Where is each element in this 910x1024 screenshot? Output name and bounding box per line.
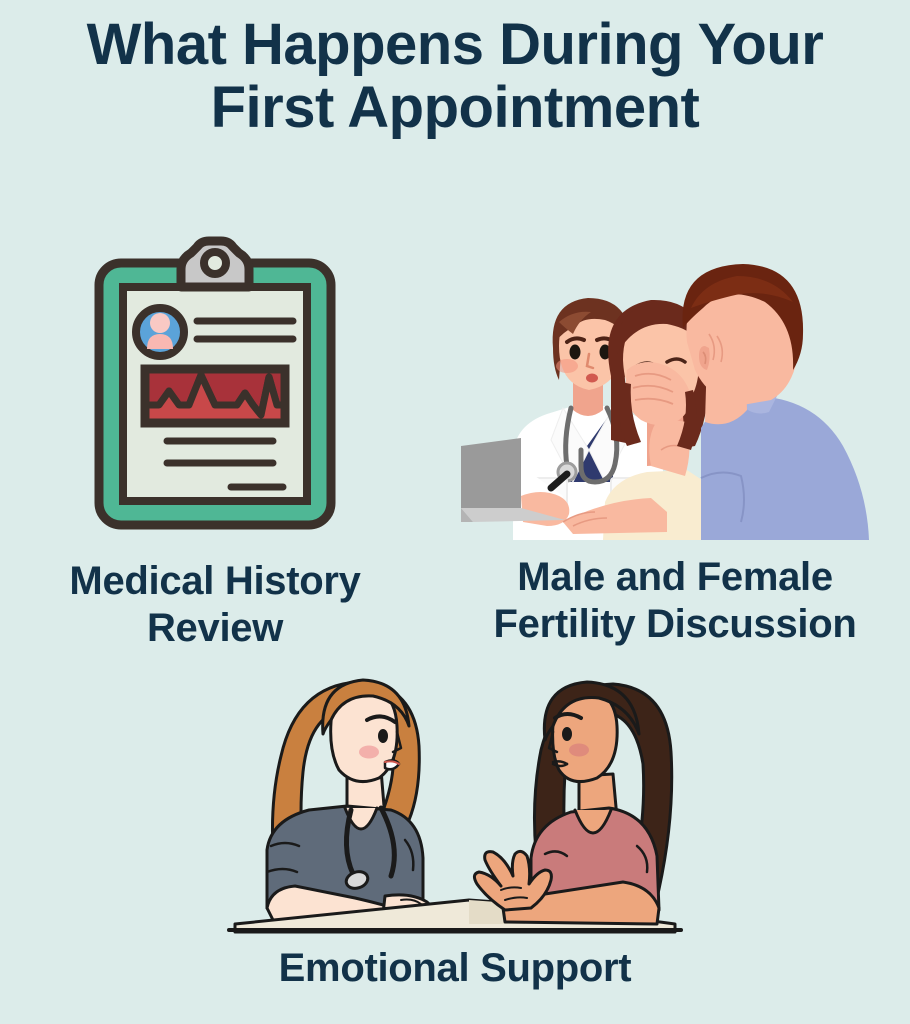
clipboard-medical-record-icon: [85, 235, 345, 535]
label-line-2: Review: [0, 605, 430, 652]
label-line-1: Emotional Support: [180, 945, 730, 992]
section-medical-history-review: Medical History Review: [0, 230, 430, 652]
section-emotional-support: Emotional Support: [180, 660, 730, 992]
doctor-consulting-couple-illustration: [455, 250, 895, 540]
patient-avatar-icon: [136, 308, 184, 356]
label-line-1: Male and Female: [440, 554, 910, 601]
patient-figure: [474, 682, 671, 924]
clipboard-clip-hole: [204, 252, 226, 274]
man-figure: [683, 264, 870, 540]
emotional-support-label: Emotional Support: [180, 945, 730, 992]
emotional-support-artwork: [180, 660, 730, 935]
nurse-figure: [267, 680, 443, 925]
label-line-1: Medical History: [0, 558, 430, 605]
fertility-discussion-label: Male and Female Fertility Discussion: [440, 554, 910, 648]
page-title-line-1: What Happens During Your: [0, 14, 910, 77]
infographic-page: What Happens During Your First Appointme…: [0, 0, 910, 1024]
medical-history-artwork: [0, 230, 430, 540]
fertility-discussion-artwork: [440, 245, 910, 540]
ecg-heartbeat-chart: [145, 369, 285, 423]
page-title-line-2: First Appointment: [0, 77, 910, 140]
nurse-and-patient-at-table-illustration: [205, 660, 705, 935]
medical-history-review-label: Medical History Review: [0, 558, 430, 652]
label-line-2: Fertility Discussion: [440, 601, 910, 648]
section-fertility-discussion: Male and Female Fertility Discussion: [440, 245, 910, 648]
page-title: What Happens During Your First Appointme…: [0, 14, 910, 139]
